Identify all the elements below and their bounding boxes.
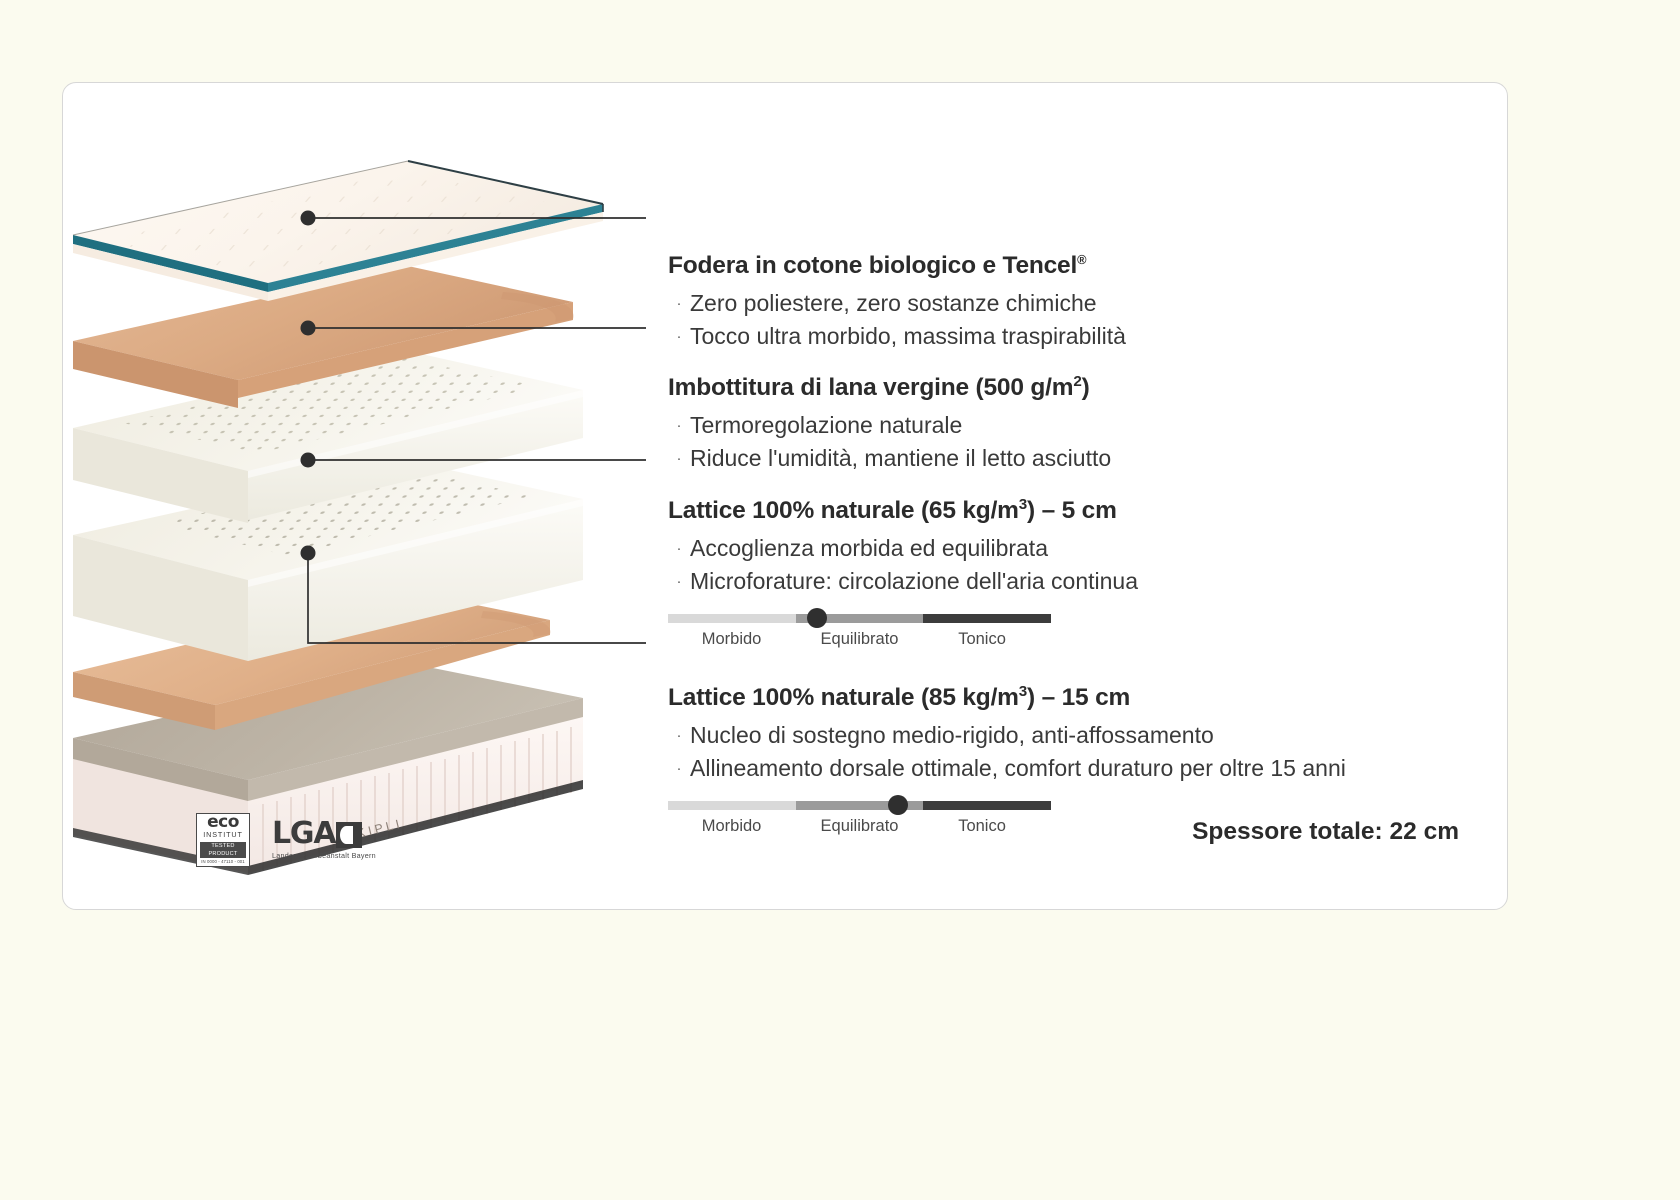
firmness-label-soft: Morbido — [702, 817, 762, 836]
bullet-text: Allineamento dorsale ottimale, comfort d… — [690, 752, 1346, 785]
superscript-3: 3 — [1019, 683, 1027, 700]
firmness-track[interactable] — [668, 614, 1051, 623]
bullet-item: · Accoglienza morbida ed equilibrata — [668, 532, 1498, 565]
layer-heading-latex-comfort: Lattice 100% naturale (65 kg/m3) – 5 cm — [668, 498, 1498, 525]
bullet-dot-icon: · — [668, 538, 690, 560]
eco-institut-logo: eco INSTITUT TESTED PRODUCT IN 0000 - 47… — [196, 813, 250, 867]
firmness-labels: Morbido Equilibrato Tonico — [668, 630, 1051, 652]
bullet-item: · Microforature: circolazione dell'aria … — [668, 565, 1498, 598]
lga-word: LGA — [272, 820, 335, 849]
bullet-dot-icon: · — [668, 293, 690, 315]
lga-mark-icon — [336, 822, 362, 848]
eco-institut-code: IN 0000 - 47110 - 001 — [201, 859, 245, 865]
lga-logo-top: LGA — [272, 820, 376, 849]
mattress-layers-card: KIPLI — [62, 82, 1508, 910]
firmness-label-firm: Tonico — [958, 817, 1006, 836]
bullet-text: Microforature: circolazione dell'aria co… — [690, 565, 1138, 598]
bullet-item: · Nucleo di sostegno medio-rigido, anti-… — [668, 719, 1498, 752]
registered-mark-icon: ® — [1077, 252, 1086, 267]
firmness-label-balanced: Equilibrato — [821, 817, 899, 836]
bullet-dot-icon: · — [668, 758, 690, 780]
superscript-2: 2 — [1073, 373, 1081, 390]
firmness-knob[interactable] — [807, 608, 827, 628]
layer-bullets-cover: · Zero poliestere, zero sostanze chimich… — [668, 287, 1498, 354]
layer-bullets-latex-core: · Nucleo di sostegno medio-rigido, anti-… — [668, 719, 1498, 786]
bullet-dot-icon: · — [668, 448, 690, 470]
firmness-segment-firm — [923, 614, 1051, 623]
lga-subtitle: Landesgewerbeanstalt Bayern — [272, 851, 376, 860]
bullet-dot-icon: · — [668, 571, 690, 593]
layer-block-wool-padding: Imbottitura di lana vergine (500 g/m2) ·… — [668, 375, 1498, 476]
eco-institut-tested-badge: TESTED PRODUCT — [200, 842, 246, 859]
bullet-item: · Riduce l'umidità, mantiene il letto as… — [668, 442, 1498, 475]
firmness-segment-soft — [668, 801, 796, 810]
bullet-text: Accoglienza morbida ed equilibrata — [690, 532, 1048, 565]
bullet-text: Termoregolazione naturale — [690, 409, 962, 442]
layer-heading-latex-core: Lattice 100% naturale (85 kg/m3) – 15 cm — [668, 685, 1498, 712]
layer-block-cover: Fodera in cotone biologico e Tencel® · Z… — [668, 253, 1498, 354]
firmness-label-firm: Tonico — [958, 630, 1006, 649]
firmness-slider-latex-comfort[interactable]: Morbido Equilibrato Tonico — [668, 614, 1051, 652]
layer-heading-cover: Fodera in cotone biologico e Tencel® — [668, 253, 1498, 280]
bullet-item: · Termoregolazione naturale — [668, 409, 1498, 442]
bullet-item: · Zero poliestere, zero sostanze chimich… — [668, 287, 1498, 320]
firmness-label-soft: Morbido — [702, 630, 762, 649]
eco-institut-subtitle: INSTITUT — [203, 830, 243, 840]
mattress-exploded-illustration: KIPLI — [63, 83, 683, 910]
layer-bullets-latex-comfort: · Accoglienza morbida ed equilibrata · M… — [668, 532, 1498, 599]
bullet-dot-icon: · — [668, 725, 690, 747]
firmness-segment-soft — [668, 614, 796, 623]
layer-block-latex-comfort: Lattice 100% naturale (65 kg/m3) – 5 cm … — [668, 498, 1498, 652]
bullet-dot-icon: · — [668, 326, 690, 348]
certification-logos: eco INSTITUT TESTED PRODUCT IN 0000 - 47… — [196, 813, 376, 867]
firmness-labels: Morbido Equilibrato Tonico — [668, 817, 1051, 839]
bullet-dot-icon: · — [668, 415, 690, 437]
bullet-item: · Tocco ultra morbido, massima traspirab… — [668, 320, 1498, 353]
firmness-track[interactable] — [668, 801, 1051, 810]
layer-bullets-wool-padding: · Termoregolazione naturale · Riduce l'u… — [668, 409, 1498, 476]
bullet-text: Riduce l'umidità, mantiene il letto asci… — [690, 442, 1111, 475]
bullet-text: Zero poliestere, zero sostanze chimiche — [690, 287, 1097, 320]
bullet-text: Tocco ultra morbido, massima traspirabil… — [690, 320, 1126, 353]
firmness-segment-firm — [923, 801, 1051, 810]
superscript-3: 3 — [1019, 496, 1027, 513]
layer-block-latex-core: Lattice 100% naturale (85 kg/m3) – 15 cm… — [668, 685, 1498, 839]
firmness-slider-latex-core[interactable]: Morbido Equilibrato Tonico — [668, 801, 1051, 839]
layer-descriptions: Fodera in cotone biologico e Tencel® · Z… — [668, 103, 1498, 893]
layer-heading-wool-padding: Imbottitura di lana vergine (500 g/m2) — [668, 375, 1498, 402]
bullet-item: · Allineamento dorsale ottimale, comfort… — [668, 752, 1498, 785]
eco-institut-word: eco — [207, 814, 239, 830]
lga-logo: LGA Landesgewerbeanstalt Bayern — [272, 820, 376, 860]
bullet-text: Nucleo di sostegno medio-rigido, anti-af… — [690, 719, 1214, 752]
layer-cover — [73, 161, 603, 301]
firmness-knob[interactable] — [888, 795, 908, 815]
total-thickness-label: Spessore totale: 22 cm — [1192, 818, 1459, 846]
firmness-label-balanced: Equilibrato — [821, 630, 899, 649]
